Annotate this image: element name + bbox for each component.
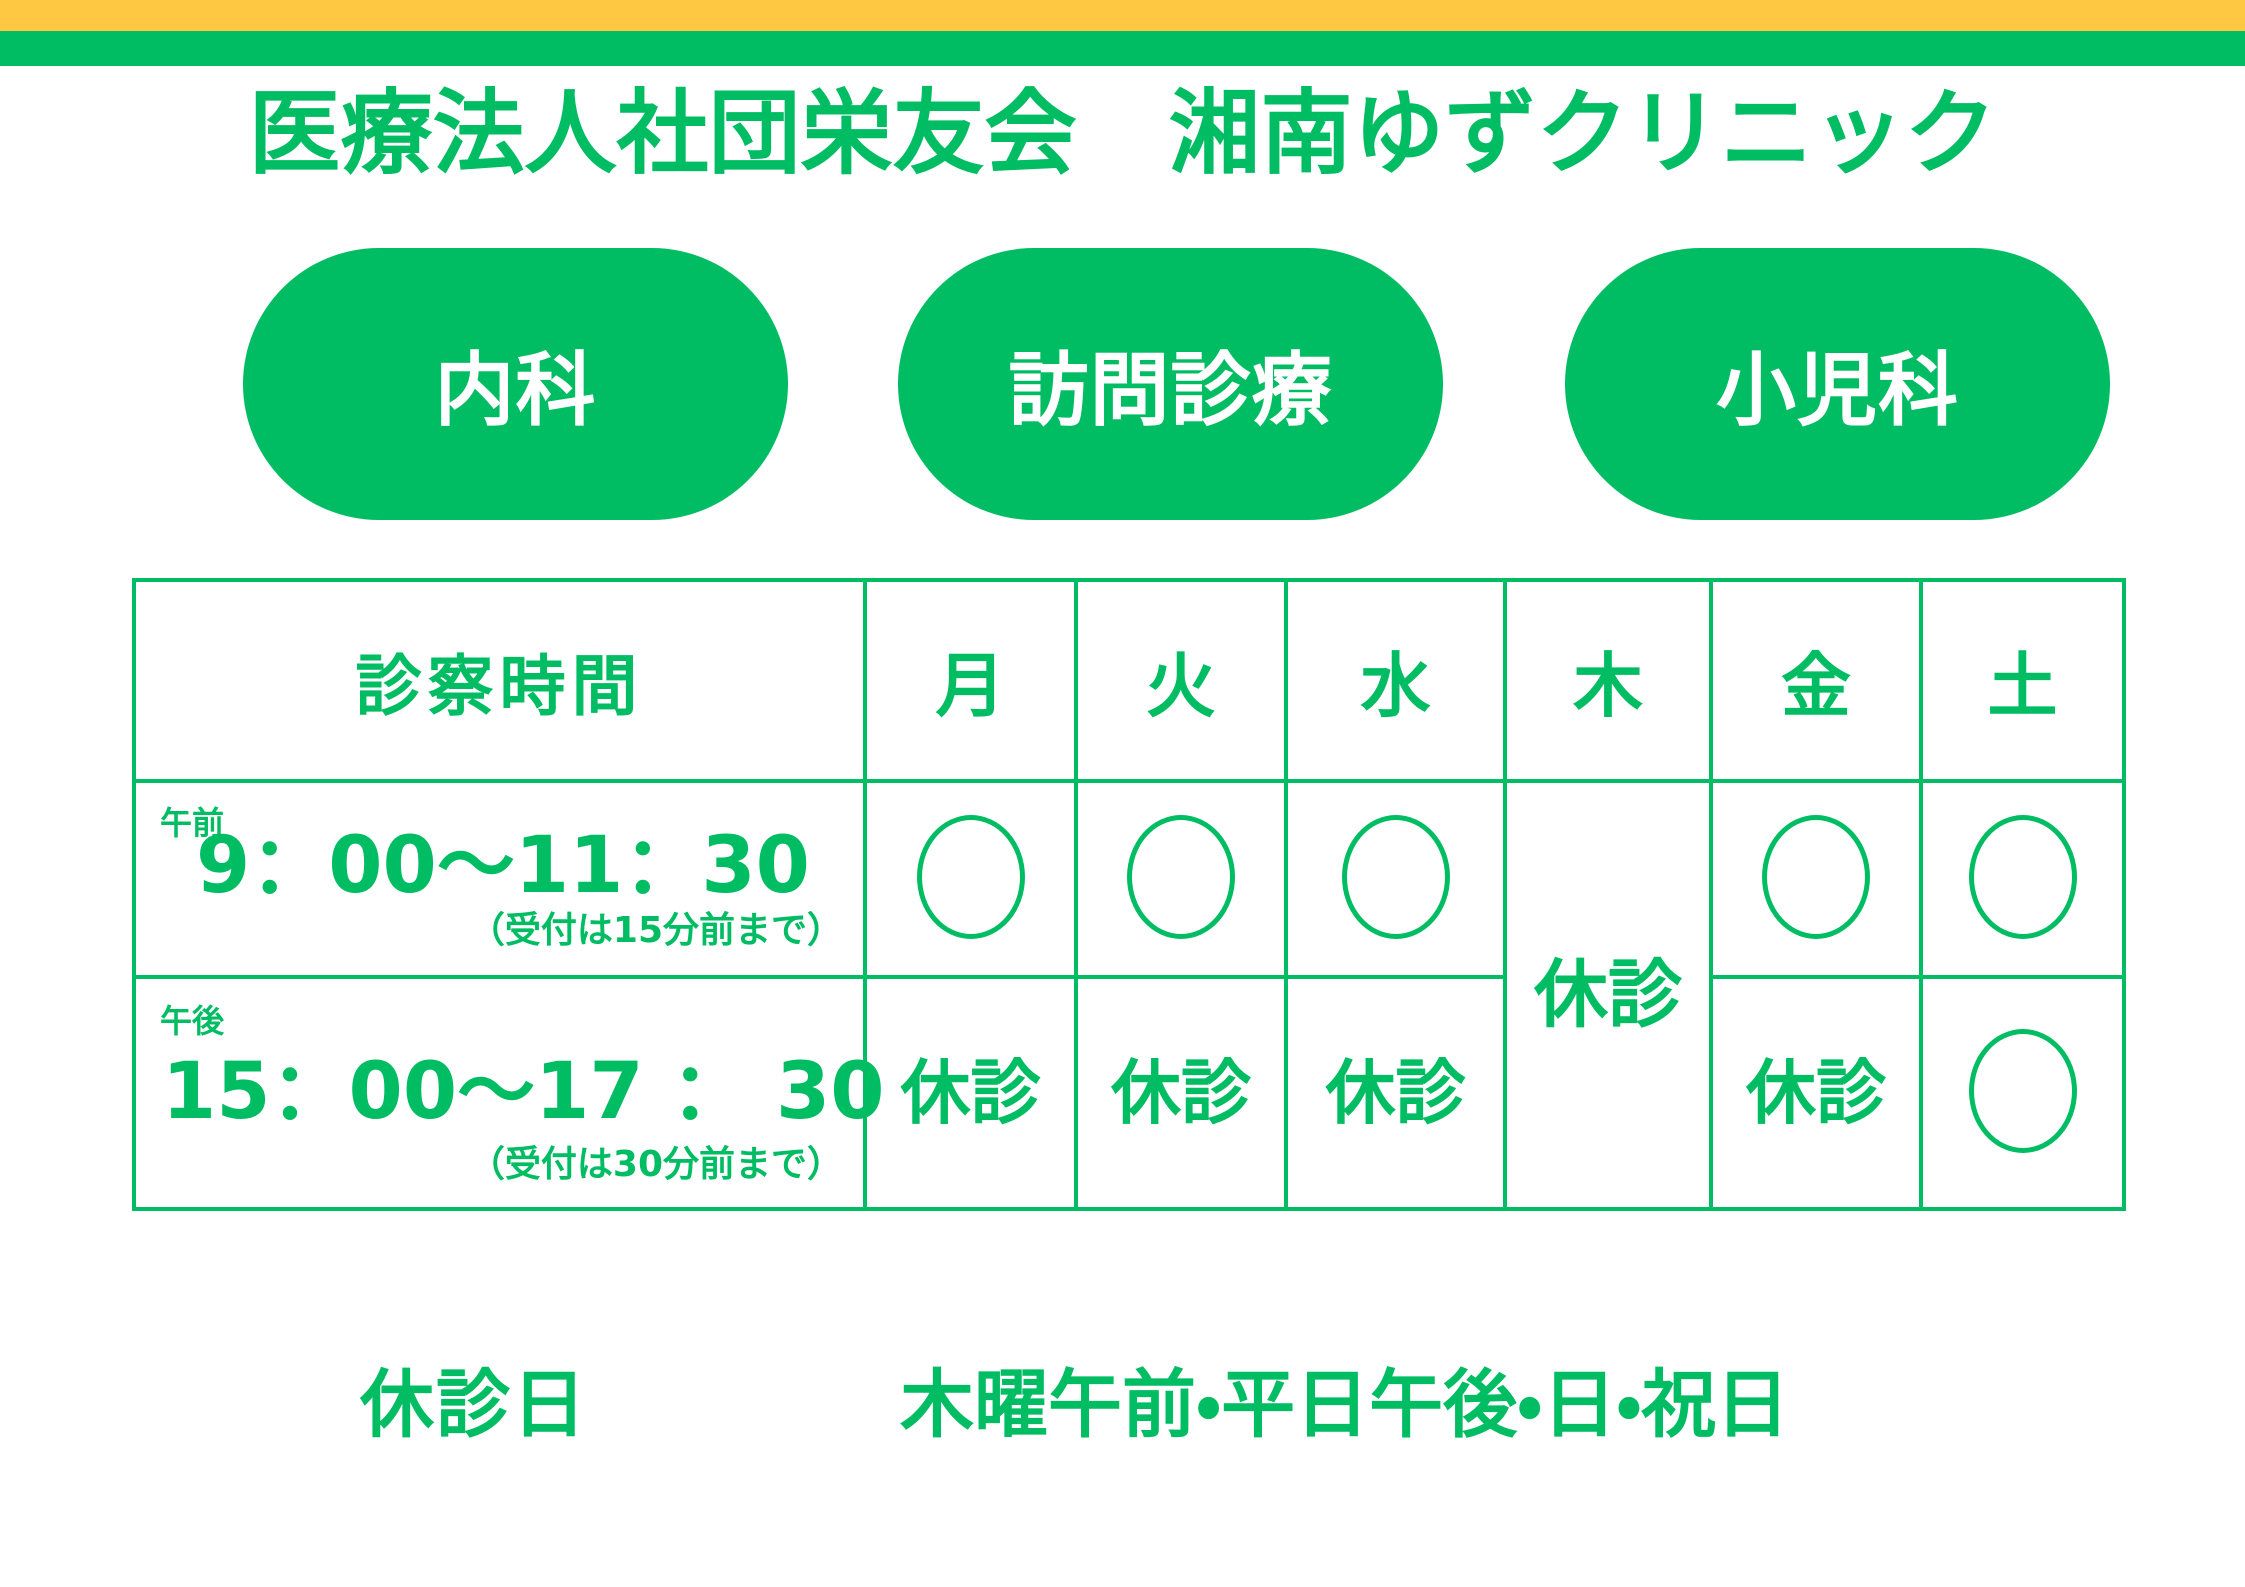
closed-label: 休診 [901, 1052, 1041, 1134]
header-day-wed: 水 [1286, 580, 1505, 781]
open-circle-icon [917, 815, 1025, 939]
open-circle-icon [1969, 815, 2077, 939]
header-day-fri: 金 [1711, 580, 1921, 781]
open-circle-icon [1969, 1029, 2077, 1153]
open-circle-icon [1762, 815, 1870, 939]
schedule-table-wrapper: 診察時間 月 火 水 木 金 土 午前 9：00〜11：30 （受付は15分前ま… [132, 578, 2122, 1207]
afternoon-time-cell: 午後 15：00〜17 ： 30 （受付は30分前まで） [134, 977, 865, 1209]
header-day-tue: 火 [1076, 580, 1286, 781]
cell-tue-afternoon: 休診 [1076, 977, 1286, 1209]
cell-mon-afternoon: 休診 [865, 977, 1076, 1209]
header-day-sat: 土 [1921, 580, 2124, 781]
cell-wed-afternoon: 休診 [1286, 977, 1505, 1209]
cell-sat-afternoon [1921, 977, 2124, 1209]
table-row: 午前 9：00〜11：30 （受付は15分前まで） 休診 [134, 781, 2124, 977]
afternoon-period-label: 午後 [160, 1005, 224, 1037]
header-day-thu: 木 [1505, 580, 1711, 781]
schedule-table: 診察時間 月 火 水 木 金 土 午前 9：00〜11：30 （受付は15分前ま… [132, 578, 2126, 1211]
department-badge-naika: 内科 [243, 248, 788, 520]
cell-fri-afternoon: 休診 [1711, 977, 1921, 1209]
top-green-band [0, 31, 2245, 66]
cell-mon-morning [865, 781, 1076, 977]
morning-time-cell: 午前 9：00〜11：30 （受付は15分前まで） [134, 781, 865, 977]
table-header-row: 診察時間 月 火 水 木 金 土 [134, 580, 2124, 781]
cell-thu-closed: 休診 [1505, 781, 1711, 1209]
cell-fri-morning [1711, 781, 1921, 977]
closed-label: 休診 [1534, 952, 1682, 1038]
cell-sat-morning [1921, 781, 2124, 977]
department-badge-shonika: 小児科 [1565, 248, 2110, 520]
department-badges: 内科 訪問診療 小児科 [0, 248, 2245, 520]
header-consultation-hours: 診察時間 [134, 580, 865, 781]
clinic-hours-sign: 医療法人社団栄友会 湘南ゆずクリニック 内科 訪問診療 小児科 診察時間 月 火 [0, 0, 2245, 1587]
closed-days-label: 休診日 [360, 1368, 588, 1442]
top-yellow-band [0, 0, 2245, 31]
closed-days-footer: 休診日 木曜午前・平日午後・日・祝日 [0, 1368, 2245, 1468]
afternoon-time-range: 15：00〜17 ： 30 [162, 1053, 885, 1131]
table-row: 午後 15：00〜17 ： 30 （受付は30分前まで） 休診 休診 休診 休診 [134, 977, 2124, 1209]
department-badge-homon-shinryo: 訪問診療 [898, 248, 1443, 520]
open-circle-icon [1127, 815, 1235, 939]
closed-label: 休診 [1326, 1052, 1466, 1134]
closed-days-value: 木曜午前・平日午後・日・祝日 [900, 1368, 1789, 1442]
afternoon-reception-note: （受付は30分前まで） [469, 1147, 843, 1183]
header-day-mon: 月 [865, 580, 1076, 781]
closed-label: 休診 [1746, 1052, 1886, 1134]
clinic-title: 医療法人社団栄友会 湘南ゆずクリニック [0, 88, 2245, 180]
cell-tue-morning [1076, 781, 1286, 977]
morning-reception-note: （受付は15分前まで） [469, 913, 843, 949]
open-circle-icon [1342, 815, 1450, 939]
cell-wed-morning [1286, 781, 1505, 977]
closed-label: 休診 [1111, 1052, 1251, 1134]
morning-time-range: 9：00〜11：30 [196, 827, 810, 905]
